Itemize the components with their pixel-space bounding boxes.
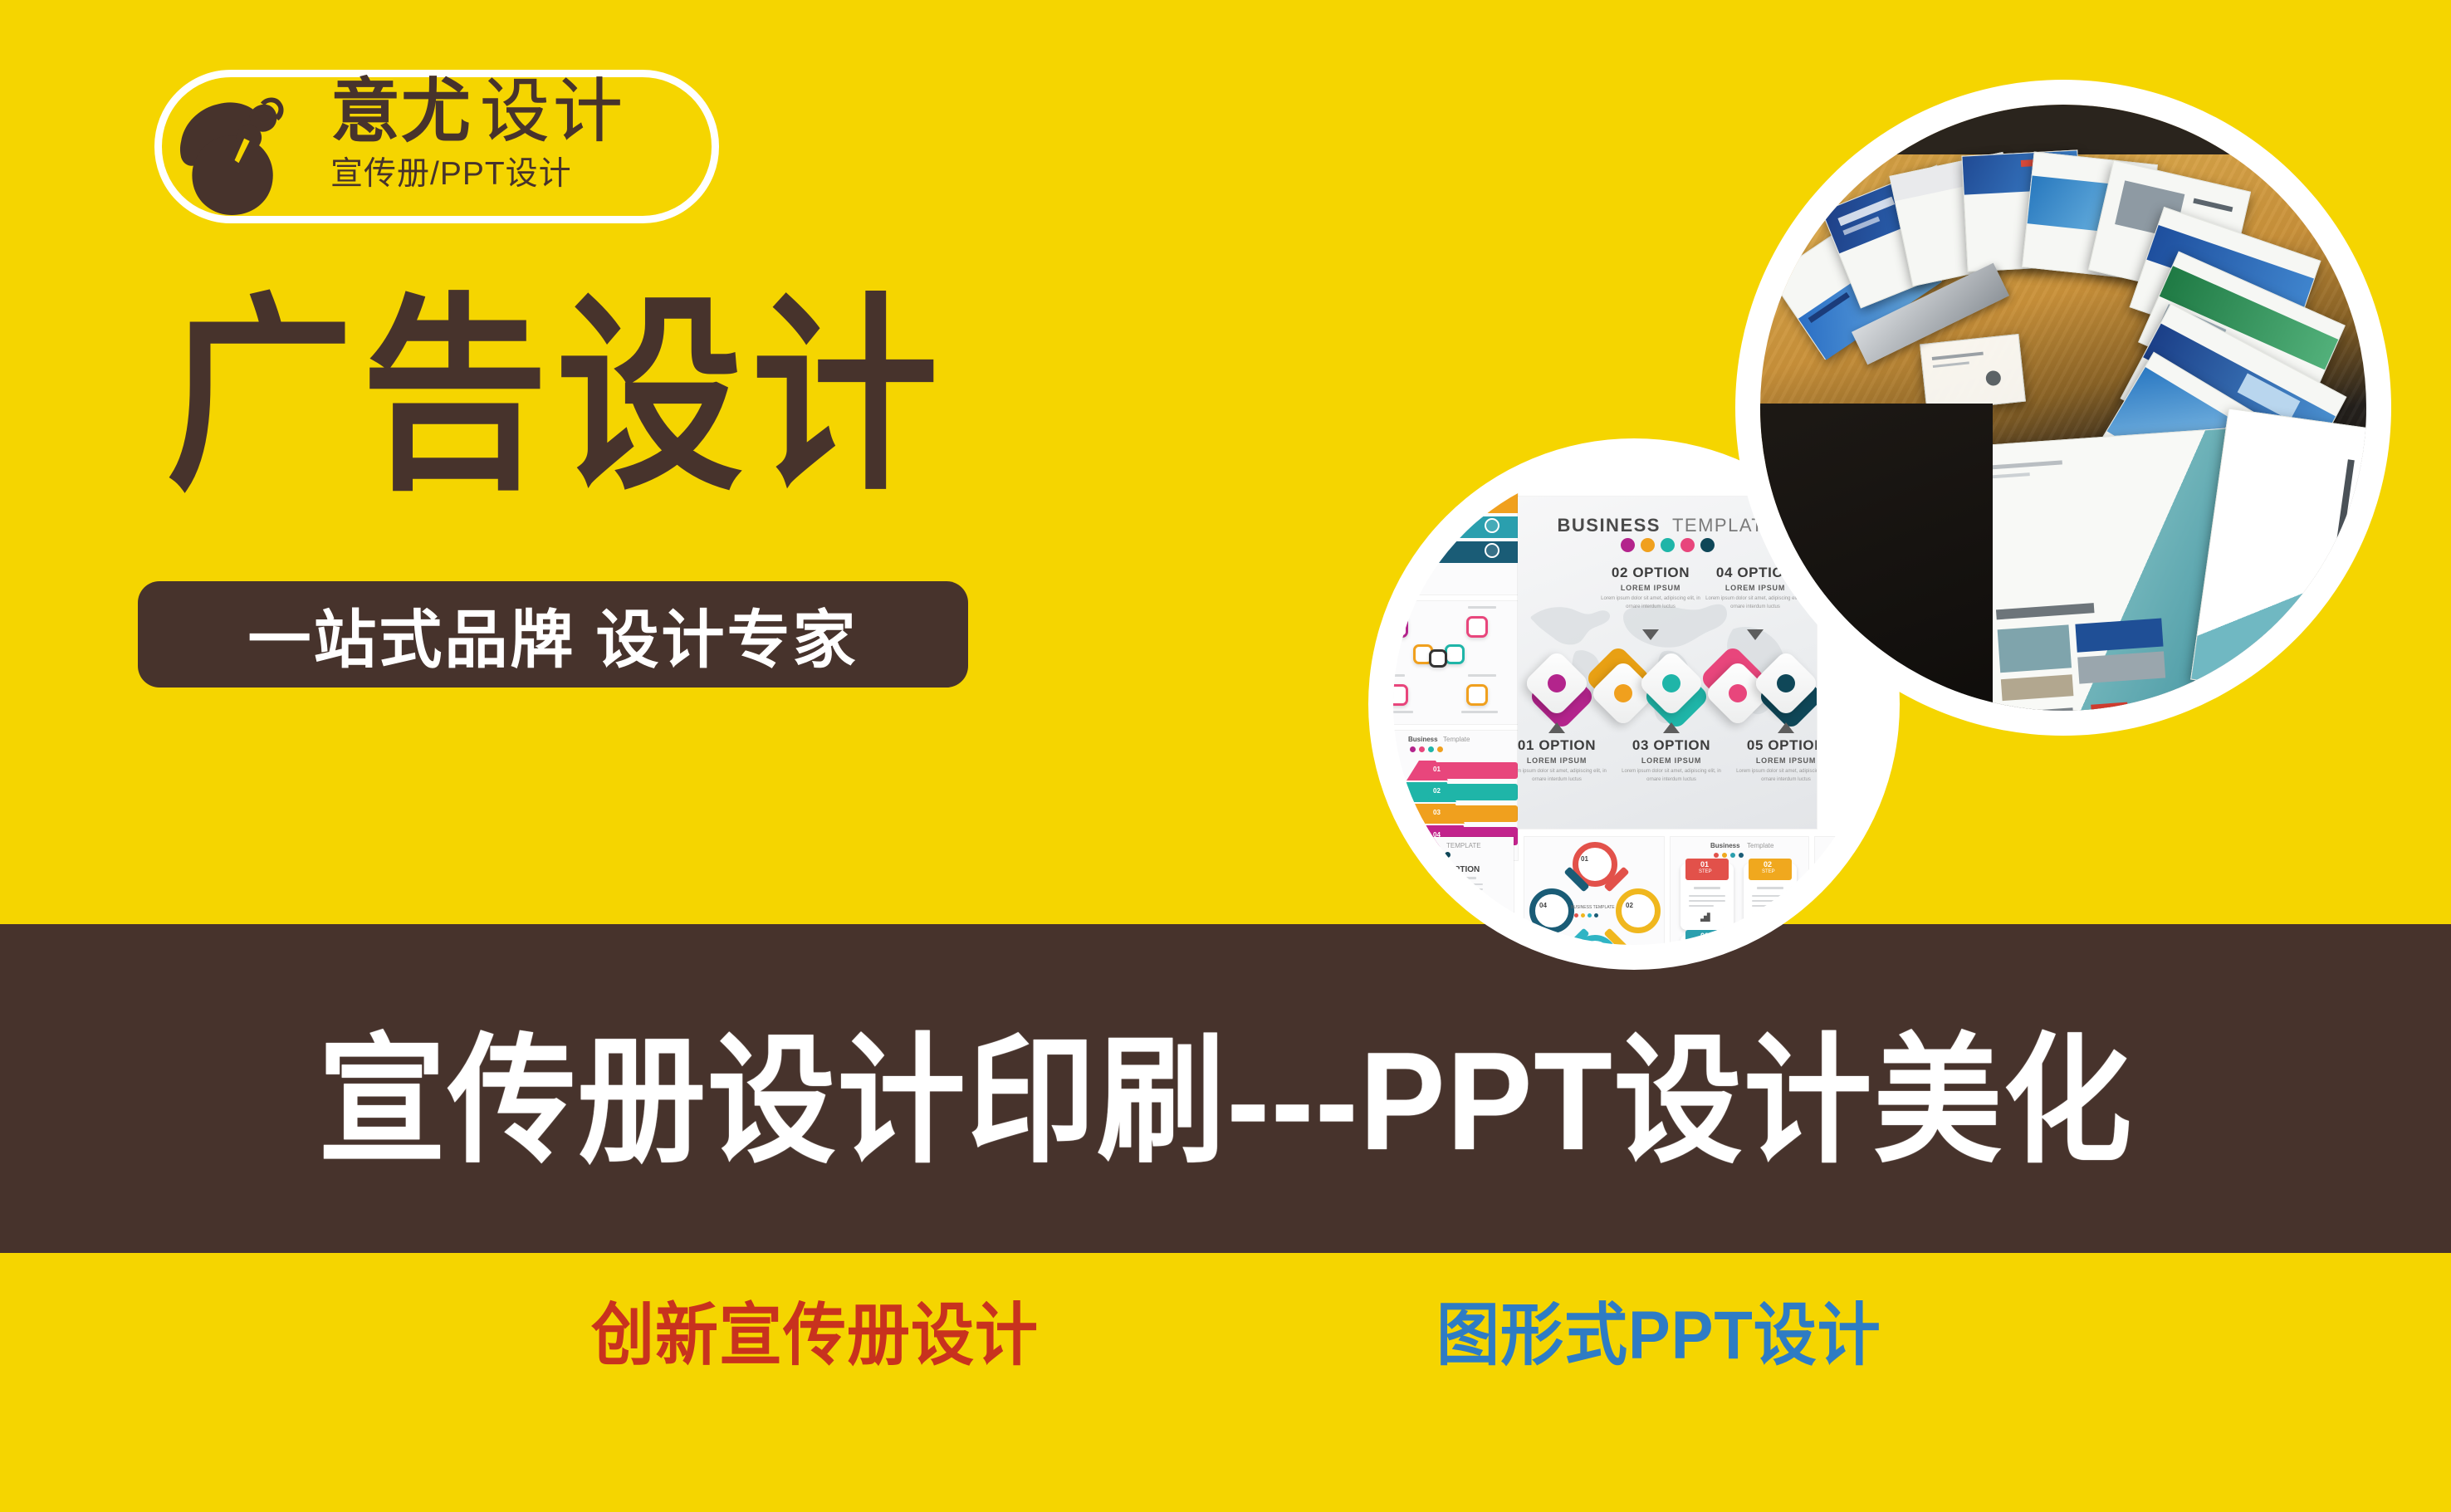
- target-icon: [1662, 674, 1680, 692]
- triangle-up-icon-01: [1548, 722, 1565, 733]
- ppt-option-02: 02 OPTION LOREM IPSUM Lorem ipsum dolor …: [1601, 565, 1700, 611]
- option-01-body: Lorem ipsum dolor sit amet, adipiscing e…: [1518, 767, 1607, 784]
- logo-subtitle: 宣传册/PPT设计: [330, 158, 626, 190]
- ppt-thumb-grid: Business 06: [1815, 837, 1875, 945]
- option-03-body: Lorem ipsum dolor sit amet, adipiscing e…: [1622, 767, 1721, 784]
- ppt-option-03: 03 OPTION LOREM IPSUM Lorem ipsum dolor …: [1622, 737, 1721, 784]
- ppt-thumb-cycle: 01 02 03 04 BUSINESS TEMPLATE: [1524, 837, 1664, 945]
- option-05-label: 05 OPTION: [1736, 737, 1817, 754]
- logo-title-light: 设计: [480, 76, 626, 146]
- option-02-label: 02 OPTION: [1601, 565, 1700, 581]
- advertising-banner: Business Template 01 02 03: [0, 0, 2451, 1512]
- triangle-down-icon-02: [1642, 629, 1659, 640]
- band-text: 宣传册设计印刷---PPT设计美化: [98, 924, 2353, 1253]
- ppt-thumb-cross-diagram: [1393, 601, 1518, 724]
- option-01-label: 01 OPTION: [1518, 737, 1607, 754]
- brochure-photo-circle: [1735, 80, 2391, 736]
- slogan-pill: 一站式品牌 设计专家: [138, 581, 968, 687]
- photo-dark-shadow: [1760, 404, 1993, 711]
- option-03-label: 03 OPTION: [1622, 737, 1721, 754]
- dot-magenta: [1621, 538, 1635, 552]
- ppt-thumb-map-small: BUSINESS TEMPLATE 04 OPTION: [1393, 837, 1514, 945]
- ppt-thumb-banners: [1393, 487, 1518, 595]
- clock-icon: [1729, 684, 1747, 702]
- option-01-sub: LOREM IPSUM: [1518, 756, 1607, 765]
- magnifier-icon: [1548, 674, 1566, 692]
- ppt-option-05: 05 OPTION LOREM IPSUM Lorem ipsum dolor …: [1736, 737, 1817, 784]
- page-title: 广告设计: [166, 292, 947, 502]
- option-03-sub: LOREM IPSUM: [1622, 756, 1721, 765]
- photo-circle-inner: [1760, 105, 2366, 711]
- dot-pink: [1680, 538, 1695, 552]
- ppt-title-bold: BUSINESS: [1558, 515, 1661, 536]
- dot-orange: [1641, 538, 1655, 552]
- gourd-logo-icon: [170, 78, 307, 215]
- triangle-up-icon-03: [1663, 722, 1680, 733]
- tagline-right: 图形式PPT设计: [1436, 1302, 1881, 1370]
- step-card-02: 02 STEP: [1744, 864, 1797, 930]
- business-card-stand: [1920, 334, 2026, 412]
- ppt-option-01: 01 OPTION LOREM IPSUM Lorem ipsum dolor …: [1518, 737, 1607, 784]
- ppt-thumb-steps: Business Template 01 STEP: [1671, 837, 1808, 945]
- tagline-left: 创新宣传册设计: [591, 1302, 1039, 1370]
- option-02-sub: LOREM IPSUM: [1601, 584, 1700, 592]
- dot-darkteal: [1700, 538, 1715, 552]
- step-card-03: 03 STEP: [1680, 935, 1734, 945]
- step-card-01: 01 STEP: [1680, 864, 1734, 930]
- slogan-text: 一站式品牌 设计专家: [247, 589, 858, 680]
- photo-dark-top: [1760, 105, 2366, 154]
- dot-teal: [1661, 538, 1675, 552]
- option-05-sub: LOREM IPSUM: [1736, 756, 1817, 765]
- option-05-body: Lorem ipsum dolor sit amet, adipiscing e…: [1736, 767, 1817, 784]
- triangle-up-icon-05: [1778, 722, 1794, 733]
- highlight-band: 宣传册设计印刷---PPT设计美化: [0, 924, 2451, 1253]
- logo-text: 意尤 设计 宣传册/PPT设计: [330, 76, 626, 190]
- rocket-icon: [1614, 684, 1632, 702]
- option-02-body: Lorem ipsum dolor sit amet, adipiscing e…: [1601, 595, 1700, 611]
- logo-title: 意尤 设计: [330, 76, 626, 146]
- step-card-04: 04 STEP: [1744, 935, 1797, 945]
- logo-title-bold: 意尤: [330, 76, 472, 146]
